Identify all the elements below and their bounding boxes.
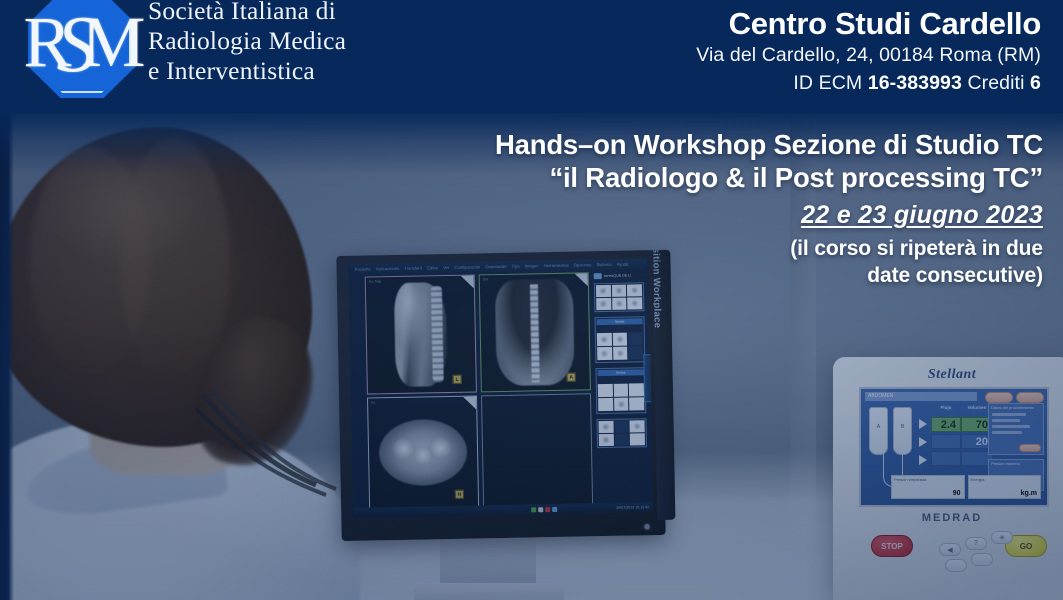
- taskbar-clock: 29/07/2019 16:13:42: [616, 505, 649, 510]
- procedure-data-panel[interactable]: Datos del procedimiento: [988, 403, 1044, 455]
- orientation-badge-coronal: A: [567, 373, 576, 382]
- thumbnail: [630, 433, 645, 445]
- thumbnail: [614, 434, 629, 446]
- thumbnail: [614, 421, 629, 433]
- thumbnail: [613, 347, 628, 360]
- monogram-letter-s: S: [57, 0, 92, 91]
- injector-brand-label: Stellant: [833, 367, 1063, 383]
- contrast-injector: Stellant ABDOMEN A B Flujo Volumen Durac…: [833, 357, 1063, 600]
- venue-block: Centro Studi Cardello Via del Cardello, …: [696, 6, 1041, 97]
- event-note-line-1: (il corso si ripeterà in due: [423, 235, 1043, 262]
- orientation-badge-sagittal: L: [453, 375, 462, 384]
- orientation-badge-axial: H: [455, 490, 464, 499]
- organ-structure: [413, 445, 433, 465]
- monitor-cables: [196, 389, 346, 499]
- menu-item[interactable]: Paciente: [355, 266, 371, 271]
- thumbnail: [630, 420, 645, 432]
- ecm-line: ID ECM 16-383993 Crediti 6: [696, 70, 1041, 97]
- syringe-b: B: [893, 407, 912, 455]
- poster-header: RSM Società Italiana di Radiologia Medic…: [0, 0, 1063, 113]
- enable-button[interactable]: ?: [965, 537, 987, 550]
- energy-readout: Energía kg.m: [968, 475, 1042, 499]
- energy-value: kg.m: [1021, 490, 1037, 497]
- crediti-value: 6: [1030, 72, 1041, 94]
- max-pressure-title: Presión máxima: [991, 461, 1020, 466]
- menu-item[interactable]: Aplicaciones: [376, 266, 400, 271]
- event-title-line-2: “il Radiologo & il Post processing TC”: [423, 161, 1043, 195]
- thumbnail: [614, 398, 629, 411]
- hair-lock: [120, 137, 230, 387]
- viewport-axial[interactable]: Ax. H: [367, 395, 479, 509]
- ct-workstation-monitor: syngo Acquisition Workplace Paciente Apl…: [336, 250, 665, 541]
- pressure-label: Presión empleada: [894, 477, 926, 482]
- stop-button[interactable]: STOP: [871, 535, 913, 557]
- flow-value-row3[interactable]: [931, 451, 961, 466]
- reset-button[interactable]: ✳: [991, 531, 1013, 544]
- thumbnail-grid[interactable]: [596, 418, 647, 448]
- thumbnail: [627, 297, 642, 309]
- flow-value-row2[interactable]: [931, 434, 961, 449]
- thumbnail-grid[interactable]: Series: [595, 367, 646, 414]
- screen-button-1[interactable]: [985, 392, 1013, 403]
- ct-image-sagittal: [394, 282, 448, 387]
- event-title-line-1: Hands–on Workshop Sezione di Studio TC: [423, 128, 1043, 161]
- protocol-name[interactable]: ABDOMEN: [865, 392, 977, 401]
- thumbnail: [628, 346, 643, 359]
- taskbar-icons[interactable]: [531, 506, 557, 511]
- thumbnail: [599, 421, 614, 433]
- thumbnail: [629, 397, 644, 410]
- society-name: Società Italiana di Radiologia Medica e …: [148, 0, 346, 86]
- pressure-readout: Presión empleada 90: [891, 475, 965, 499]
- status-icon-blue[interactable]: [552, 506, 557, 511]
- column-header-flow: Flujo: [931, 405, 961, 410]
- viewport-corner-marker: [463, 396, 476, 409]
- monitor-power-led[interactable]: [644, 524, 649, 529]
- syringe-a: A: [869, 407, 888, 455]
- thumbnail: [629, 383, 644, 396]
- venue-name: Centro Studi Cardello: [696, 6, 1041, 42]
- thumbnail: [612, 333, 627, 346]
- flow-value[interactable]: 2.4: [931, 417, 961, 432]
- event-date: 22 e 23 giugno 2023: [423, 197, 1043, 233]
- society-line-1: Società Italiana di: [148, 0, 346, 26]
- monitor-stand-base: [414, 583, 564, 600]
- ecm-code: 16-383993: [868, 72, 962, 94]
- screen-button-2[interactable]: [1016, 392, 1044, 403]
- ct-image-axial: [378, 419, 467, 487]
- menu-item[interactable]: Transferir: [404, 265, 422, 270]
- pressure-value: 90: [953, 490, 961, 497]
- organ-structure: [393, 438, 415, 460]
- thumbnail-grid[interactable]: Series: [595, 316, 646, 363]
- workstation-sidebar[interactable]: seriesQUE DE L/ Series: [594, 271, 648, 505]
- status-icon-green[interactable]: [531, 507, 536, 512]
- thumbnail: [597, 347, 612, 360]
- thumbnail: [599, 434, 614, 446]
- left-frame-strip: [0, 113, 14, 600]
- injector-bottom-readouts: Presión empleada 90 Energía kg.m: [891, 475, 1041, 499]
- event-note-line-2: date consecutive): [423, 262, 1043, 289]
- series-title: Series: [598, 369, 644, 376]
- procedure-panel-title: Datos del procedimiento: [991, 405, 1034, 410]
- fill-button[interactable]: [971, 553, 993, 566]
- flow-arrow-icon: [919, 455, 927, 465]
- event-title-block: Hands–on Workshop Sezione di Studio TC “…: [423, 128, 1043, 289]
- thumbnail: [598, 398, 613, 411]
- venue-address: Via del Cardello, 24, 00184 Roma (RM): [696, 42, 1041, 69]
- radiologist-figure: [0, 117, 370, 600]
- energy-label: Energía: [971, 477, 985, 482]
- ct-image-coronal: [495, 279, 575, 386]
- spine-structure: [431, 286, 444, 382]
- injector-screen[interactable]: ABDOMEN A B Flujo Volumen Duración 2.4 7…: [859, 387, 1049, 507]
- thumbnail: [612, 298, 627, 310]
- viewport-empty[interactable]: [481, 393, 593, 507]
- thumbnail: [628, 332, 643, 345]
- viewport-coronal[interactable]: Cor. A: [479, 272, 591, 392]
- viewport-axial-label: Ax.: [371, 400, 376, 404]
- flow-arrow-icon: [919, 419, 927, 429]
- society-line-2: Radiologia Medica: [148, 26, 346, 56]
- viewport-sagittal[interactable]: Ax. Sag. L: [365, 274, 477, 394]
- thumbnail: [598, 384, 613, 397]
- crediti-label: Crediti: [967, 72, 1024, 94]
- thumbnail: [613, 384, 628, 397]
- spine-structure: [530, 284, 540, 382]
- monitor-screen[interactable]: Paciente Aplicaciones Transferir Editar …: [348, 258, 653, 518]
- flow-arrow-icon: [919, 437, 927, 447]
- poster-root: RSM Società Italiana di Radiologia Medic…: [0, 0, 1063, 600]
- thumbnail: [597, 333, 612, 346]
- syringe-diagram: A B: [869, 407, 915, 463]
- prime-button[interactable]: [945, 559, 967, 572]
- status-icon-red[interactable]: [545, 507, 550, 512]
- ecm-label: ID ECM: [793, 72, 862, 94]
- thumbnail: [596, 298, 611, 310]
- status-icon-grey[interactable]: [538, 507, 543, 512]
- sirm-logo: RSM: [22, 0, 144, 100]
- sirm-monogram: RSM: [22, 0, 142, 100]
- cable-svg: [196, 389, 346, 499]
- viewport-sagittal-label: Ax. Sag.: [369, 279, 382, 283]
- arm-button[interactable]: ◀: [939, 543, 961, 556]
- series-title: Series: [597, 318, 643, 325]
- procedure-confirm-button[interactable]: [1019, 444, 1041, 452]
- injector-vendor-label: MEDRAD: [833, 512, 1063, 524]
- society-line-3: e Interventistica: [148, 56, 346, 86]
